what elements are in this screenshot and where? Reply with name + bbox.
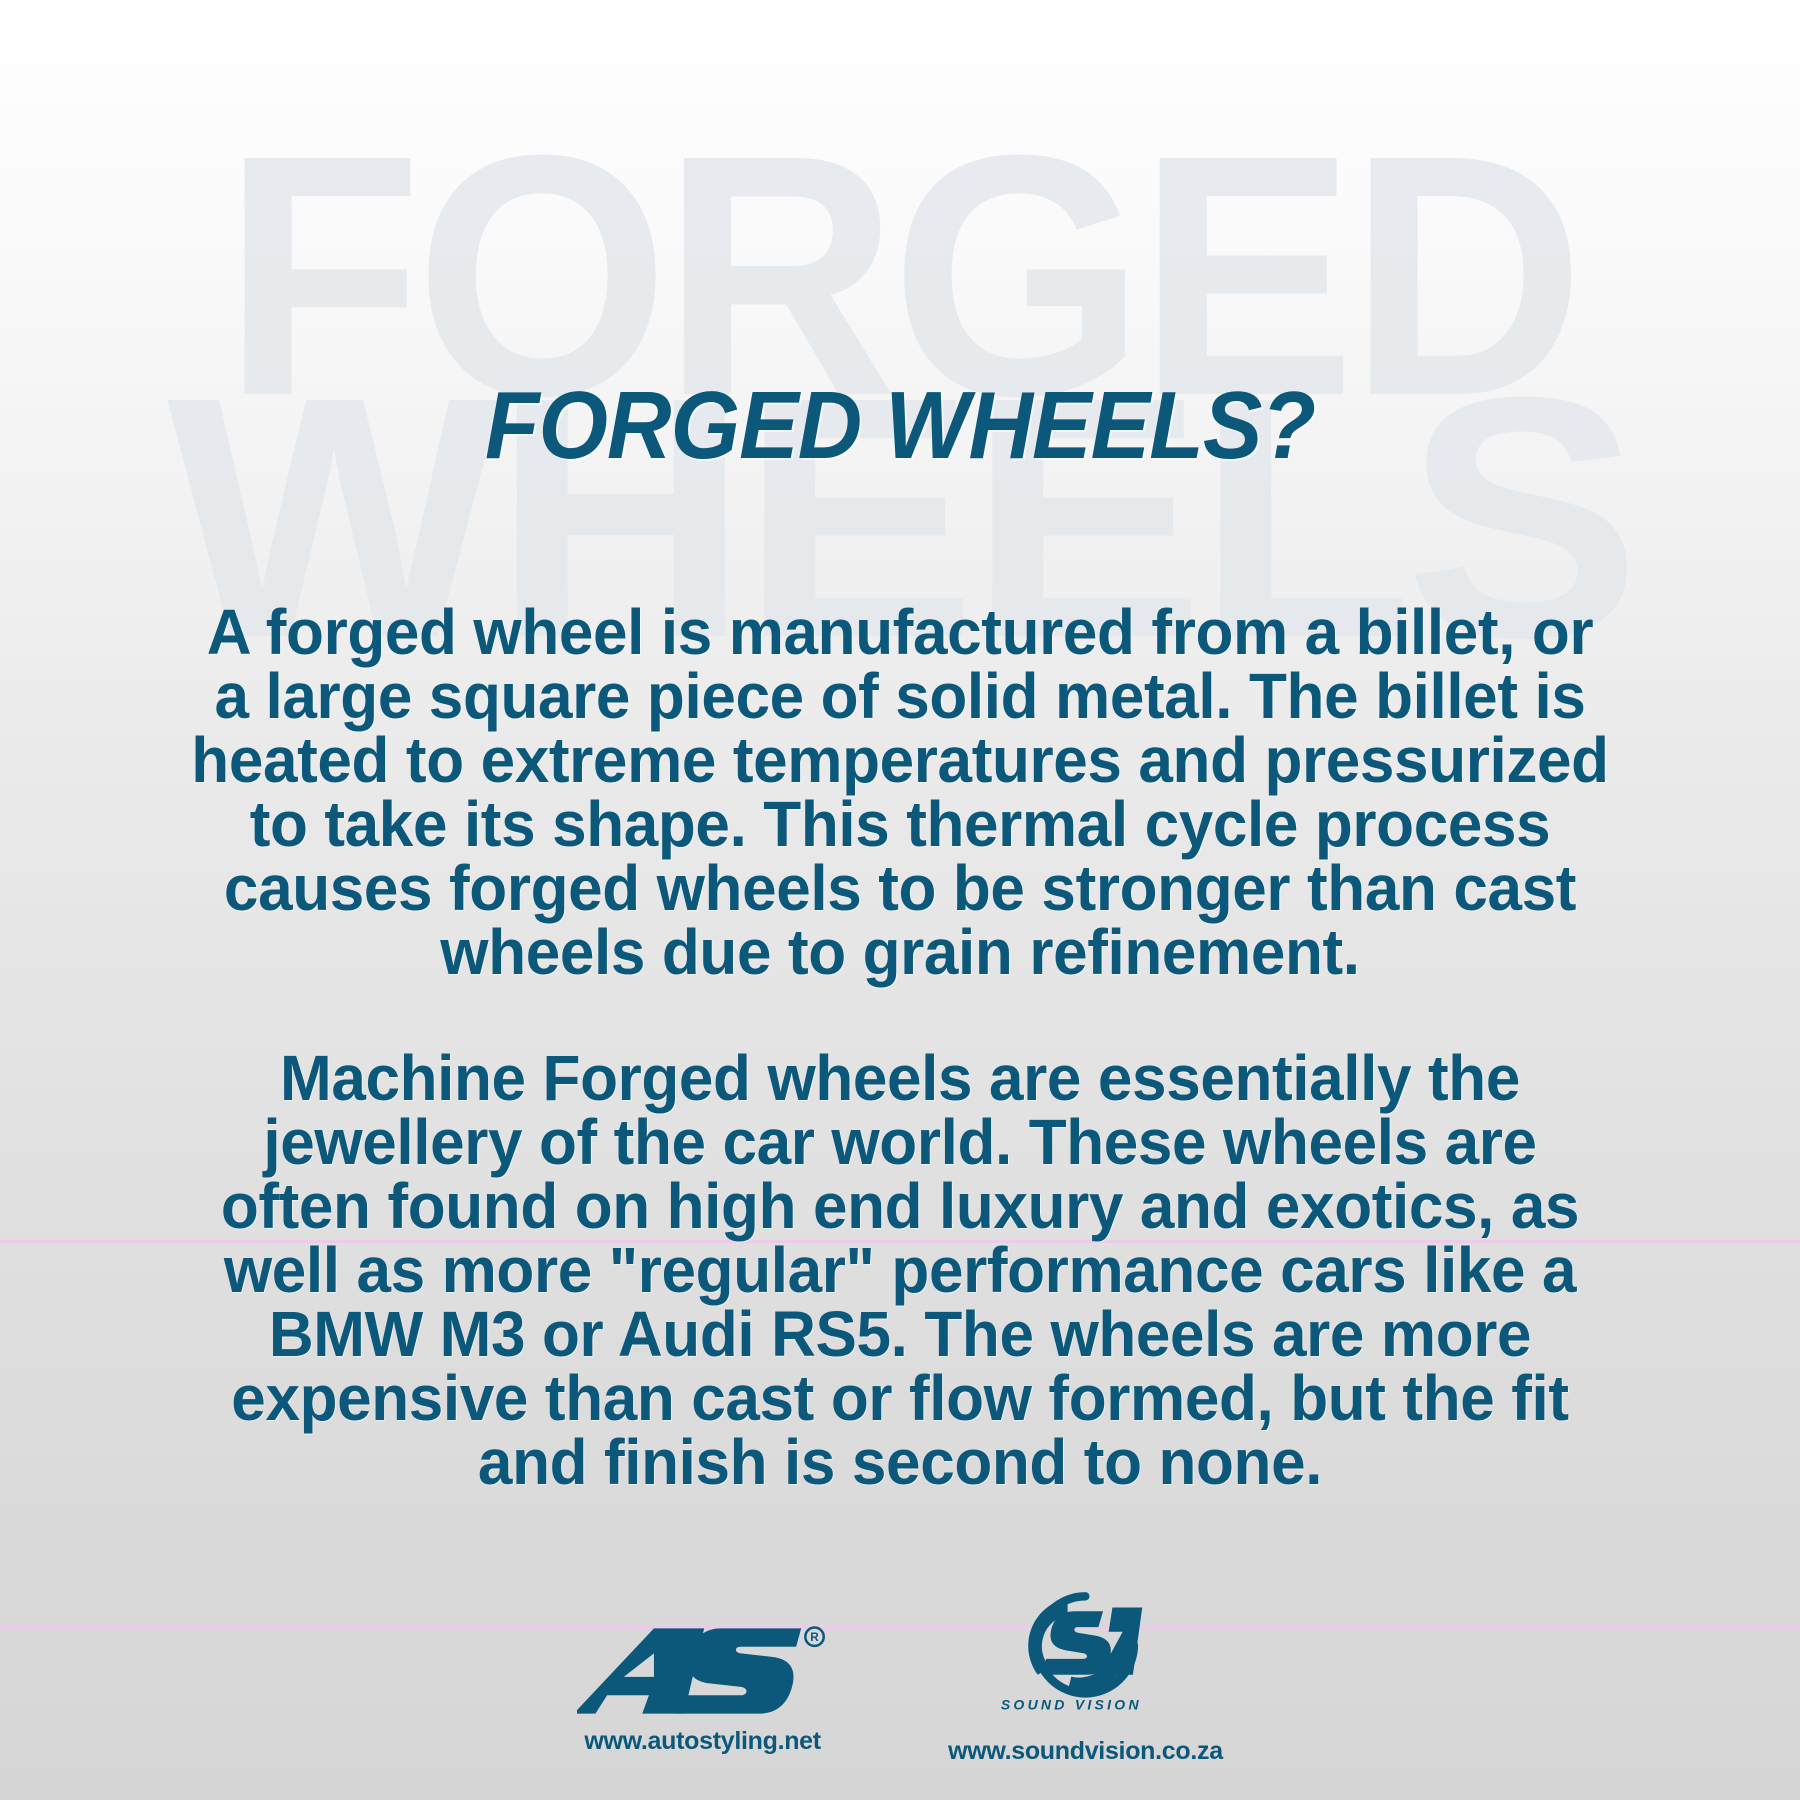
paragraph-1-line-2: a large square piece of solid metal. The… <box>143 664 1656 728</box>
sound-vision-tagline: SOUND VISION <box>1001 1696 1142 1712</box>
brand-sound-vision[interactable]: SOUND VISION www.soundvision.co.za <box>948 1587 1223 1766</box>
paragraph-1-line-4: to take its shape. This thermal cycle pr… <box>143 792 1656 856</box>
page-title: FORGED WHEELS? <box>63 378 1737 474</box>
paragraph-1-line-6: wheels due to grain refinement. <box>143 920 1656 984</box>
svg-text:R: R <box>810 1631 819 1644</box>
paragraph-1-line-5: causes forged wheels to be stronger than… <box>143 856 1656 920</box>
paragraph-2-line-7: and finish is second to none. <box>143 1430 1656 1494</box>
poster-canvas: FORGED WHEELS FORGED WHEELS? A forged wh… <box>0 0 1800 1800</box>
sound-vision-url[interactable]: www.soundvision.co.za <box>948 1737 1223 1766</box>
paragraph-2-line-5: BMW M3 or Audi RS5. The wheels are more <box>143 1302 1656 1366</box>
paragraph-2-line-4: well as more "regular" performance cars … <box>143 1238 1656 1302</box>
paragraph-2-line-3: often found on high end luxury and exoti… <box>143 1174 1656 1238</box>
paragraph-2-line-1: Machine Forged wheels are essentially th… <box>143 1046 1656 1110</box>
paragraph-spacer <box>143 984 1656 1046</box>
footer-brand-bar: R www.autostyling.net SOUND VISION www.s… <box>0 1589 1800 1766</box>
paragraph-1-line-1: A forged wheel is manufactured from a bi… <box>143 600 1656 664</box>
paragraph-2-line-2: jewellery of the car world. These wheels… <box>143 1110 1656 1174</box>
sound-vision-logo-icon: SOUND VISION <box>978 1587 1193 1727</box>
auto-styling-url[interactable]: www.autostyling.net <box>584 1727 820 1756</box>
auto-styling-logo-icon: R <box>577 1625 828 1717</box>
paragraph-2-line-6: expensive than cast or flow formed, but … <box>143 1366 1656 1430</box>
body-copy: A forged wheel is manufactured from a bi… <box>143 600 1656 1494</box>
paragraph-1-line-3: heated to extreme temperatures and press… <box>143 728 1656 792</box>
brand-auto-styling[interactable]: R www.autostyling.net <box>577 1625 828 1756</box>
